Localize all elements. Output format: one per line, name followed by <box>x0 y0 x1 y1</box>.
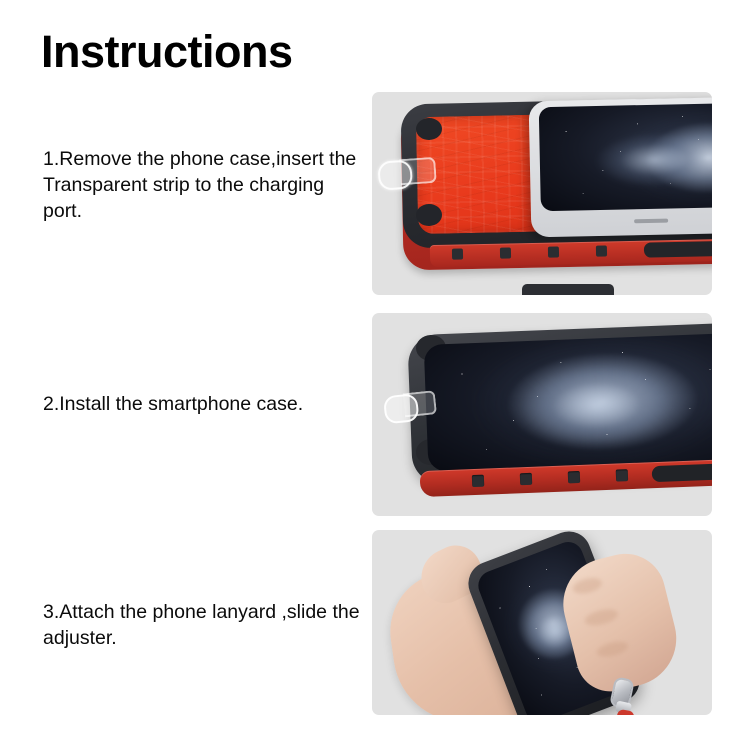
transparent-strip <box>377 154 431 190</box>
step-2-image-panel <box>372 313 712 516</box>
step-1-image-panel <box>372 92 712 295</box>
step-1-text: 1.Remove the phone case,insert the Trans… <box>43 147 363 225</box>
step-3-image-panel <box>372 530 712 715</box>
phone-bottom-edge <box>522 284 614 295</box>
hand-holding-phone-illustration <box>372 530 712 715</box>
step-2-text: 2.Install the smartphone case. <box>43 392 363 418</box>
case-charging-port-cutout <box>652 463 712 482</box>
phone-screen <box>424 333 712 472</box>
case-vent-slot <box>472 475 484 487</box>
instructions-page: Instructions 1.Remove the phone case,ins… <box>0 0 750 750</box>
phone-screen <box>539 103 712 212</box>
wallpaper-speckles <box>539 103 712 212</box>
case-vent-slot <box>452 248 463 259</box>
open-case-illustration <box>372 92 712 295</box>
transparent-strip <box>383 389 434 424</box>
case-vent-slot <box>616 469 628 481</box>
transparent-strip-loop <box>383 393 420 424</box>
case-vent-slot <box>568 471 580 483</box>
case-vent-slot <box>520 473 532 485</box>
step-3-text: 3.Attach the phone lanyard ,slide the ad… <box>43 600 363 652</box>
case-vent-slot <box>500 247 511 258</box>
finger-crease <box>571 575 603 596</box>
installed-case-illustration <box>372 313 712 516</box>
case-charging-port-cutout <box>644 241 712 258</box>
finger-crease <box>583 606 619 628</box>
phone-speaker-grille <box>634 219 668 224</box>
smartphone <box>529 97 712 238</box>
case-vent-slot <box>548 246 559 257</box>
transparent-strip-loop <box>377 159 413 190</box>
case-vent-slot <box>596 245 607 256</box>
page-title: Instructions <box>41 28 293 75</box>
wallpaper-speckles <box>424 333 712 472</box>
finger-crease <box>595 639 629 659</box>
